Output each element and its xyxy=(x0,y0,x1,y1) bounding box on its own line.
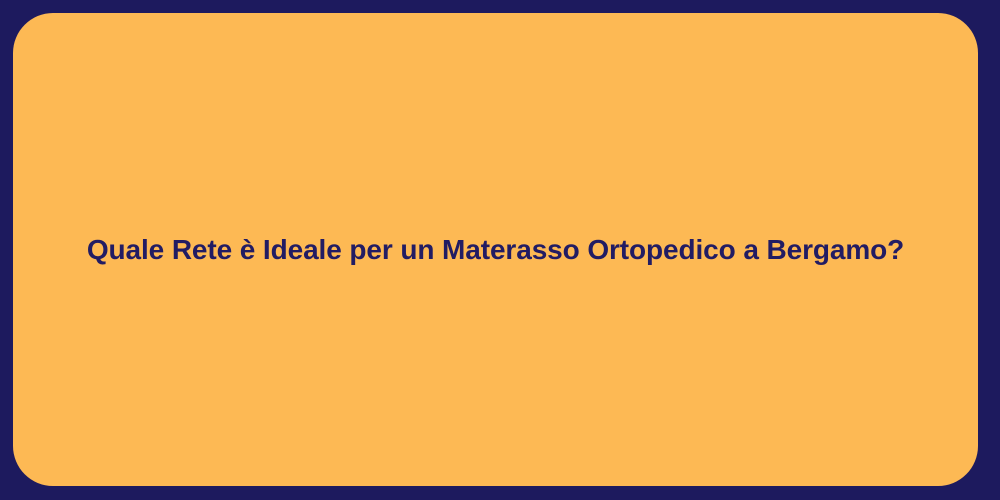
banner-panel: Quale Rete è Ideale per un Materasso Ort… xyxy=(13,13,978,486)
banner-frame: Quale Rete è Ideale per un Materasso Ort… xyxy=(0,0,1000,500)
page-title: Quale Rete è Ideale per un Materasso Ort… xyxy=(87,232,904,267)
